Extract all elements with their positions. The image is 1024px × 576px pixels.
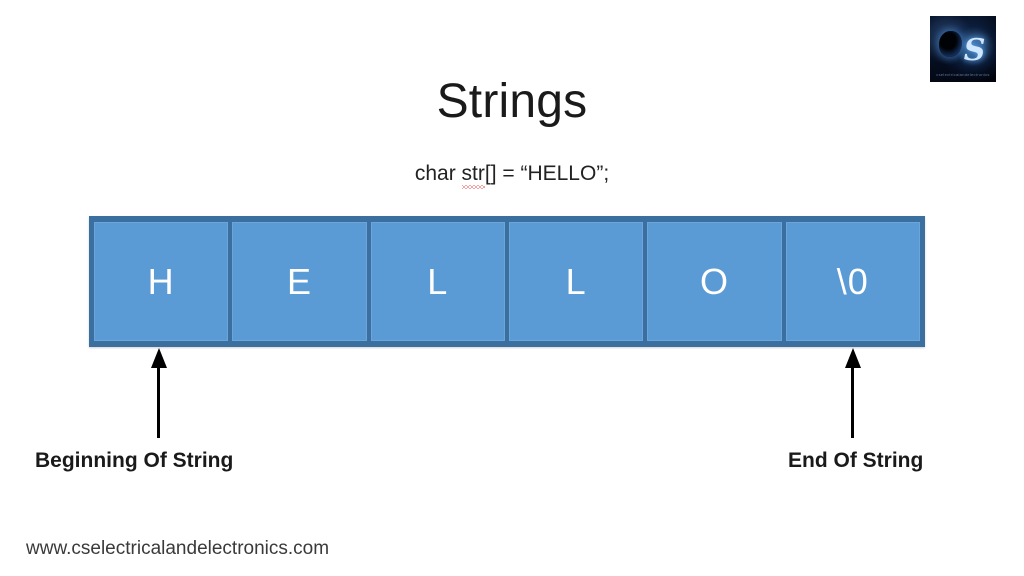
string-array-diagram: H E L L O \0 <box>89 216 925 347</box>
logo-blob-shape <box>939 31 961 57</box>
array-cell-3: L <box>509 222 643 341</box>
array-cell-0: H <box>94 222 228 341</box>
label-beginning-of-string: Beginning Of String <box>35 449 233 473</box>
up-arrow-icon-end <box>844 348 862 438</box>
up-arrow-icon-start <box>150 348 168 438</box>
footer-website-url: www.cselectricalandelectronics.com <box>26 538 329 560</box>
array-cell-4: O <box>647 222 781 341</box>
code-identifier: str <box>462 162 485 186</box>
array-cell-1: E <box>232 222 366 341</box>
code-declaration: char str[] = “HELLO”; <box>0 162 1024 186</box>
logo-artwork: S cselectricalandelectronics <box>930 16 996 82</box>
page-title: Strings <box>0 74 1024 129</box>
label-end-of-string: End Of String <box>788 449 923 473</box>
array-cell-2: L <box>371 222 505 341</box>
logo-letter-s: S <box>964 36 986 66</box>
code-prefix: char <box>415 162 462 185</box>
code-suffix: [] = “HELLO”; <box>485 162 609 185</box>
array-cell-5: \0 <box>786 222 920 341</box>
